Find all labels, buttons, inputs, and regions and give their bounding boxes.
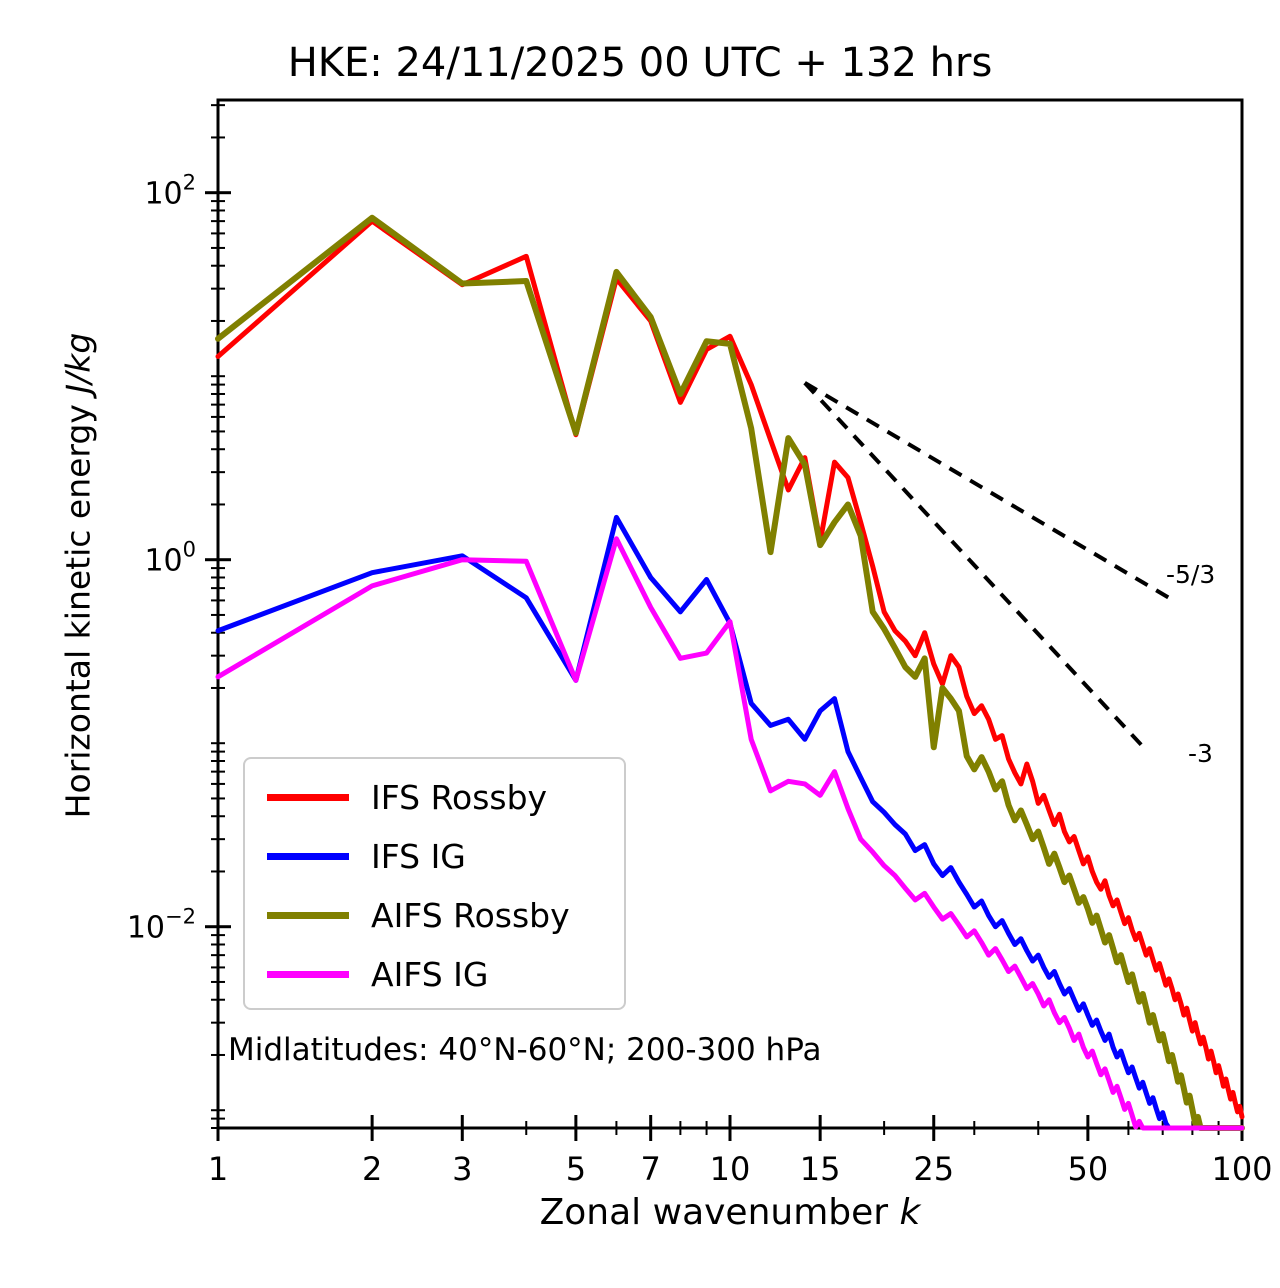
x-tick-label: 3: [452, 1150, 472, 1188]
slope-minus-three-label: -3: [1188, 739, 1213, 768]
x-tick-label: 7: [641, 1150, 661, 1188]
x-tick-label: 2: [362, 1150, 382, 1188]
legend-item-ifs-ig[interactable]: IFS IG: [245, 827, 624, 885]
y-tick-label: 102: [144, 171, 196, 212]
chart-figure: HKE: 24/11/2025 00 UTC + 132 hrs Horizon…: [0, 0, 1280, 1288]
legend-item-aifs-ig[interactable]: AIFS IG: [245, 945, 624, 1003]
legend-swatch-icon: [267, 971, 349, 978]
x-tick-label: 50: [1068, 1150, 1109, 1188]
x-tick-label: 25: [913, 1150, 954, 1188]
legend-item-label: IFS Rossby: [371, 781, 547, 814]
legend-swatch-icon: [267, 853, 349, 860]
x-tick-label: 5: [566, 1150, 586, 1188]
y-tick-label: 100: [144, 538, 196, 579]
plot-area: 123571015255010010210010−2 -5/3-3 Midlat…: [0, 0, 1280, 1288]
slope-minus-three: [805, 383, 1143, 747]
legend-item-label: AIFS Rossby: [371, 899, 570, 932]
y-tick-label: 10−2: [127, 905, 196, 946]
x-tick-label: 15: [800, 1150, 841, 1188]
region-annotation: Midlatitudes: 40°N-60°N; 200-300 hPa: [228, 1032, 822, 1068]
legend-item-aifs-rossby[interactable]: AIFS Rossby: [245, 886, 624, 944]
legend-swatch-icon: [267, 912, 349, 919]
chart-annotations: Midlatitudes: 40°N-60°N; 200-300 hPa: [228, 1032, 822, 1068]
slope-minus-five-thirds-label: -5/3: [1166, 560, 1215, 589]
legend-item-ifs-rossby[interactable]: IFS Rossby: [245, 768, 624, 826]
legend-swatch-icon: [267, 794, 349, 801]
legend-item-label: IFS IG: [371, 840, 466, 873]
x-tick-label: 1: [208, 1150, 228, 1188]
chart-legend: IFS RossbyIFS IGAIFS RossbyAIFS IG: [243, 757, 626, 1010]
slope-minus-five-thirds: [805, 383, 1169, 598]
legend-item-label: AIFS IG: [371, 958, 488, 991]
x-tick-label: 100: [1211, 1150, 1272, 1188]
x-tick-label: 10: [710, 1150, 751, 1188]
